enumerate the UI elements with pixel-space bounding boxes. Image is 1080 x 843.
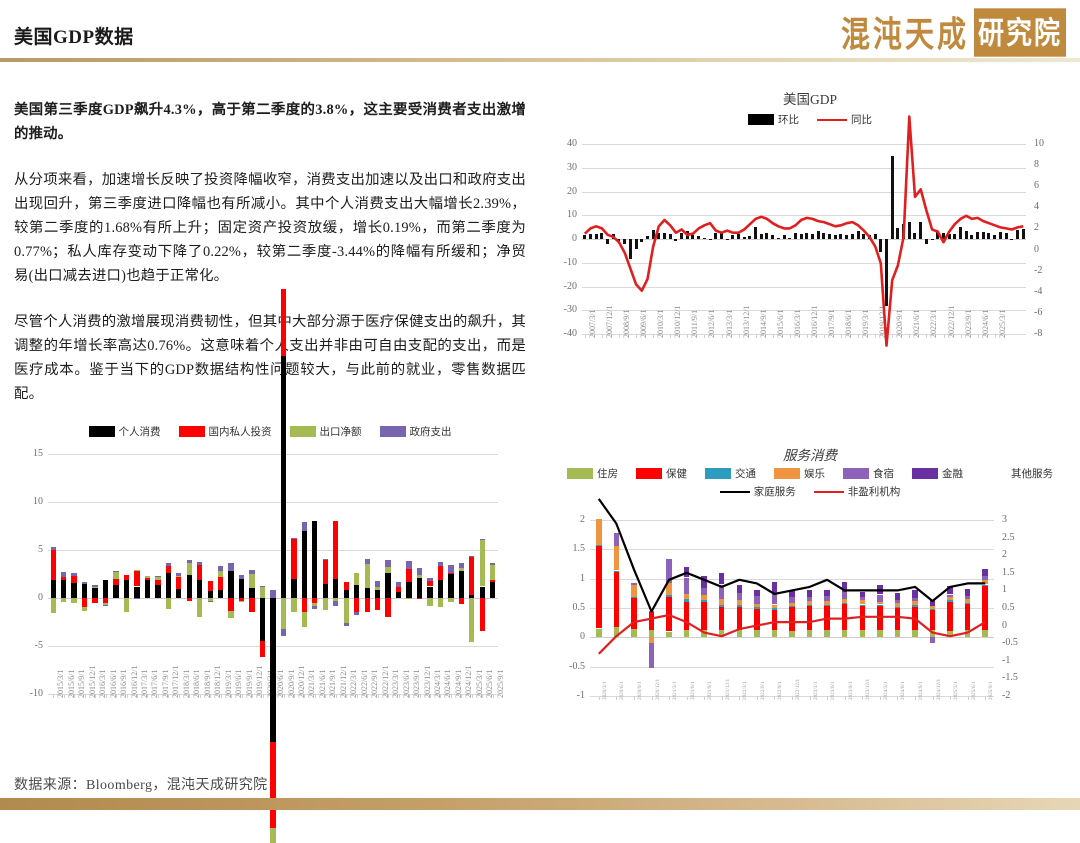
stacked-bar xyxy=(396,454,401,694)
y2-axis-tick-label: 6 xyxy=(1034,180,1062,191)
legend-item: 娱乐 xyxy=(774,466,825,481)
x-axis-tickmark xyxy=(773,334,774,338)
stacked-bar xyxy=(480,454,485,694)
y2-axis-tick-label: -4 xyxy=(1034,286,1062,297)
x-axis-tickmark xyxy=(827,696,828,700)
x-axis-tickmark xyxy=(440,694,441,698)
bar-segment xyxy=(228,571,233,598)
y-axis-tick-label: -20 xyxy=(546,281,577,292)
bar-segment xyxy=(187,575,192,598)
gridline xyxy=(582,334,1026,335)
legend-color-swatch xyxy=(912,468,938,479)
bar-segment xyxy=(291,539,296,579)
x-axis-tickmark xyxy=(74,694,75,698)
bar-segment xyxy=(92,598,97,603)
stacked-bar xyxy=(187,454,192,694)
x-axis-tickmark xyxy=(64,694,65,698)
bar-segment xyxy=(417,598,422,599)
logo-box-text: 研究院 xyxy=(974,8,1066,56)
x-axis-tickmark xyxy=(880,696,881,700)
legend-item: 保健 xyxy=(636,466,687,481)
legend-label: 金融 xyxy=(942,466,963,481)
stacked-bar xyxy=(239,454,244,694)
x-axis-tickmark xyxy=(619,334,620,338)
x-axis-tickmark xyxy=(263,694,264,698)
bar-segment xyxy=(166,563,171,567)
bar-segment xyxy=(103,605,108,606)
bar-segment xyxy=(291,579,296,598)
bar-segment xyxy=(312,521,317,598)
stacked-bar xyxy=(71,454,76,694)
x-axis-tickmark xyxy=(127,694,128,698)
bar-segment xyxy=(480,539,485,540)
bar-segment xyxy=(270,590,275,598)
bar-segment xyxy=(92,585,97,588)
bar-segment xyxy=(208,591,213,598)
header-divider xyxy=(0,58,1080,62)
x-axis-tickmark xyxy=(294,694,295,698)
x-axis-tickmark xyxy=(53,694,54,698)
bar-segment xyxy=(197,598,202,617)
y2-axis-tick-label: 3 xyxy=(1002,514,1030,525)
bar-segment xyxy=(145,576,150,578)
chart-us-gdp: 美国GDP 环比同比 403020100-10-20-30-401086420-… xyxy=(546,84,1074,414)
bar-segment xyxy=(82,607,87,612)
bar-segment xyxy=(145,578,150,580)
x-axis-tickmark xyxy=(461,694,462,698)
bar-segment xyxy=(375,587,380,590)
y-axis-tick-label: -30 xyxy=(546,304,577,315)
company-logo: 混沌天成 研究院 xyxy=(841,10,1066,54)
y-axis-tick-label: 1 xyxy=(554,573,585,584)
legend-item: 住房 xyxy=(567,466,618,481)
x-axis-tickmark xyxy=(722,334,723,338)
bar-segment xyxy=(61,580,66,598)
bar-segment xyxy=(197,565,202,579)
bar-segment xyxy=(406,561,411,570)
y2-axis-tick-label: -2 xyxy=(1002,690,1030,701)
bar-segment xyxy=(385,560,390,568)
stacked-bar xyxy=(365,454,370,694)
x-axis-tickmark xyxy=(420,694,421,698)
bar-segment xyxy=(155,580,160,585)
bar-segment xyxy=(249,574,254,588)
stacked-bar xyxy=(145,454,150,694)
bar-segment xyxy=(92,588,97,598)
bar-segment xyxy=(270,742,275,828)
x-axis-tickmark xyxy=(790,334,791,338)
bar-segment xyxy=(490,563,495,565)
bar-segment xyxy=(51,580,56,598)
legend-label: 家庭服务 xyxy=(754,484,796,499)
x-axis-tickmark xyxy=(200,694,201,698)
x-axis-tickmark xyxy=(961,334,962,338)
x-axis-tickmark xyxy=(221,694,222,698)
bar-segment xyxy=(469,556,474,557)
y-axis-tick-label: -40 xyxy=(546,328,577,339)
bar-segment xyxy=(270,598,275,742)
legend-item: 家庭服务 xyxy=(720,484,796,499)
x-axis-tickmark xyxy=(106,694,107,698)
legend-label: 交通 xyxy=(735,466,756,481)
footer-divider xyxy=(0,798,1080,810)
bar-segment xyxy=(218,577,223,590)
stacked-bar xyxy=(51,454,56,694)
bar-segment xyxy=(438,562,443,567)
y-axis-tick-label: 40 xyxy=(546,138,577,149)
bar-segment xyxy=(469,598,474,642)
bar-segment xyxy=(302,612,307,626)
x-axis-tickmark xyxy=(810,696,811,700)
x-axis-tickmark xyxy=(472,694,473,698)
x-axis-tickmark xyxy=(897,696,898,700)
legend-line-marker xyxy=(814,491,844,493)
legend-color-swatch xyxy=(748,114,774,125)
x-axis-tickmark xyxy=(346,694,347,698)
bar-segment xyxy=(260,598,265,641)
y2-axis-tick-label: 1 xyxy=(1002,584,1030,595)
x-axis-tickmark xyxy=(451,694,452,698)
x-axis-tickmark xyxy=(482,694,483,698)
stacked-bar xyxy=(385,454,390,694)
legend-item: 非盈利机构 xyxy=(814,484,901,499)
source-note: 数据来源：Bloomberg，混沌天成研究院 xyxy=(14,774,268,794)
bar-segment xyxy=(145,580,150,598)
article-body: 美国第三季度GDP飙升4.3%，高于第二季度的3.8%，这主要受消费者支出激增的… xyxy=(14,84,526,421)
stacked-bar xyxy=(155,454,160,694)
paragraph-1: 美国第三季度GDP飙升4.3%，高于第二季度的3.8%，这主要受消费者支出激增的… xyxy=(14,98,526,146)
x-axis-tickmark xyxy=(85,694,86,698)
y-axis-tick-label: 10 xyxy=(12,496,43,507)
legend-item: 食宿 xyxy=(843,466,894,481)
y-axis-tick-label: 10 xyxy=(546,209,577,220)
x-axis-tickmark xyxy=(602,334,603,338)
x-axis-tickmark xyxy=(599,696,600,700)
stacked-bar xyxy=(406,454,411,694)
bar-segment xyxy=(427,598,432,606)
stacked-bar xyxy=(459,454,464,694)
bar-segment xyxy=(365,559,370,565)
stacked-bar xyxy=(176,454,181,694)
stacked-bar xyxy=(354,454,359,694)
bar-segment xyxy=(249,598,254,612)
chart-title: 服务消费 xyxy=(546,444,1074,464)
x-axis-tickmark xyxy=(687,334,688,338)
x-axis-tickmark xyxy=(585,334,586,338)
bar-segment xyxy=(396,587,401,592)
stacked-bar xyxy=(218,454,223,694)
bar-segment xyxy=(176,573,181,576)
y-axis-tick-label: 15 xyxy=(12,448,43,459)
x-axis-tickmark xyxy=(653,334,654,338)
y-axis-tick-label: -0.5 xyxy=(554,661,585,672)
legend-color-swatch xyxy=(567,468,593,479)
bar-segment xyxy=(438,580,443,598)
bar-segment xyxy=(417,575,422,578)
stacked-bar xyxy=(490,454,495,694)
bar-segment xyxy=(260,641,265,656)
x-axis-tickmark xyxy=(179,694,180,698)
stacked-bar xyxy=(134,454,139,694)
bar-segment xyxy=(208,581,213,592)
x-axis-tickmark xyxy=(875,334,876,338)
bar-segment xyxy=(385,598,390,617)
x-axis-tickmark xyxy=(968,696,969,700)
bar-segment xyxy=(375,598,380,610)
x-axis-tickmark xyxy=(634,696,635,700)
bar-segment xyxy=(344,590,349,598)
bar-segment xyxy=(113,585,118,598)
x-axis-tickmark xyxy=(933,696,934,700)
x-axis-tickmark xyxy=(158,694,159,698)
x-axis-tickmark xyxy=(652,696,653,700)
y-axis-tick-label: -5 xyxy=(12,640,43,651)
y2-axis-tick-label: -8 xyxy=(1034,328,1062,339)
stacked-bar xyxy=(375,454,380,694)
x-axis-tickmark xyxy=(985,696,986,700)
bar-segment xyxy=(333,521,338,579)
bar-segment xyxy=(365,588,370,598)
bar-segment xyxy=(92,587,97,588)
x-axis-tickmark xyxy=(116,694,117,698)
legend-label: 同比 xyxy=(851,112,872,127)
bar-segment xyxy=(124,575,129,580)
y2-axis-tick-label: 10 xyxy=(1034,138,1062,149)
bar-segment xyxy=(208,601,213,602)
bar-segment xyxy=(406,569,411,582)
bar-segment xyxy=(228,598,233,611)
x-axis-tickmark xyxy=(862,696,863,700)
x-axis-tickmark xyxy=(399,694,400,698)
x-axis-tickmark xyxy=(670,334,671,338)
stacked-bar xyxy=(197,454,202,694)
x-axis-tickmark xyxy=(807,334,808,338)
bar-segment xyxy=(71,573,76,576)
bar-segment xyxy=(176,576,181,577)
bar-segment xyxy=(51,547,56,550)
chart-gdp-contribution: 个人消费国内私人投资出口净额政府支出 151050-5-102015/3/120… xyxy=(6,420,534,780)
stacked-bar xyxy=(427,454,432,694)
bar-segment xyxy=(459,598,464,604)
legend-item: 金融 xyxy=(912,466,963,481)
bar-segment xyxy=(218,590,223,598)
bar-segment xyxy=(281,629,286,637)
y-axis-tick-label: 1.5 xyxy=(554,543,585,554)
y2-axis-tick-label: 0 xyxy=(1034,244,1062,255)
bar-segment xyxy=(61,577,66,580)
bar-segment xyxy=(82,582,87,584)
bar-segment xyxy=(354,598,359,612)
plot-area: 21.510.50-0.5-132.521.510.50-0.5-1-1.5-2… xyxy=(590,520,994,696)
stacked-bar xyxy=(323,454,328,694)
y2-axis-tick-label: -1.5 xyxy=(1002,672,1030,683)
x-axis-tickmark xyxy=(858,334,859,338)
legend-label: 食宿 xyxy=(873,466,894,481)
x-axis-tickmark xyxy=(995,334,996,338)
x-axis-tickmark xyxy=(231,694,232,698)
bar-segment xyxy=(61,572,66,577)
bar-segment xyxy=(480,587,485,599)
x-axis-tickmark xyxy=(704,696,705,700)
x-axis-tickmark xyxy=(824,334,825,338)
x-axis-tickmark xyxy=(493,694,494,698)
y2-axis-tick-label: 4 xyxy=(1034,201,1062,212)
bar-segment xyxy=(134,598,139,599)
bar-segment xyxy=(427,578,432,581)
bar-segment xyxy=(124,580,129,598)
bar-segment xyxy=(260,586,265,588)
x-axis-tickmark xyxy=(739,334,740,338)
x-axis-tickmark xyxy=(841,334,842,338)
bar-segment xyxy=(417,568,422,575)
y-axis-tick-label: -1 xyxy=(554,690,585,701)
chart-legend: 住房保健交通娱乐食宿金融其他服务家庭服务非盈利机构 xyxy=(546,466,1074,502)
y2-axis-tick-label: 2.5 xyxy=(1002,532,1030,543)
x-axis-tickmark xyxy=(325,694,326,698)
legend-item: 环比 xyxy=(748,112,799,127)
logo-main-text: 混沌天成 xyxy=(841,6,969,57)
bar-segment xyxy=(448,598,453,602)
x-axis-tickmark xyxy=(978,334,979,338)
x-axis-tickmark xyxy=(168,694,169,698)
y2-axis-tick-label: 8 xyxy=(1034,159,1062,170)
bar-segment xyxy=(396,592,401,598)
legend-label: 娱乐 xyxy=(804,466,825,481)
legend-color-swatch xyxy=(843,468,869,479)
stacked-bar xyxy=(249,454,254,694)
stacked-bar xyxy=(302,454,307,694)
bar-segment xyxy=(134,587,139,599)
stacked-bar xyxy=(281,454,286,694)
bar-segment xyxy=(51,598,56,613)
bar-segment xyxy=(490,580,495,582)
bar-segment xyxy=(281,289,286,356)
x-axis-tickmark xyxy=(315,694,316,698)
stacked-bar xyxy=(438,454,443,694)
x-axis-tickmark xyxy=(756,334,757,338)
x-axis-tickmark xyxy=(304,694,305,698)
bar-segment xyxy=(71,583,76,598)
legend-line-marker xyxy=(720,491,750,493)
x-axis-tickmark xyxy=(242,694,243,698)
x-axis-tickmark xyxy=(722,696,723,700)
legend-item: 国内私人投资 xyxy=(179,424,272,439)
page-title: 美国GDP数据 xyxy=(14,22,134,49)
bar-segment xyxy=(218,566,223,571)
bar-segment xyxy=(490,582,495,598)
legend-item: 个人消费 xyxy=(89,424,161,439)
legend-color-swatch xyxy=(89,426,115,437)
bar-segment xyxy=(448,574,453,598)
legend-label: 其他服务 xyxy=(1011,466,1053,481)
bar-segment xyxy=(385,567,390,573)
bar-segment xyxy=(302,522,307,531)
legend-label: 保健 xyxy=(666,466,687,481)
y-axis-tick-label: 0.5 xyxy=(554,602,585,613)
y2-axis-tick-label: 2 xyxy=(1034,222,1062,233)
bar-segment xyxy=(323,559,328,560)
stacked-bar xyxy=(113,454,118,694)
bar-segment xyxy=(354,612,359,615)
bar-segment xyxy=(396,582,401,588)
y-axis-tick-label: 30 xyxy=(546,162,577,173)
y2-axis-tick-label: 0.5 xyxy=(1002,602,1030,613)
y-axis-tick-label: 0 xyxy=(546,233,577,244)
y2-axis-tick-label: -2 xyxy=(1034,265,1062,276)
bar-segment xyxy=(375,581,380,588)
legend-item: 出口净额 xyxy=(290,424,362,439)
bar-segment xyxy=(427,587,432,599)
bar-segment xyxy=(427,581,432,587)
x-axis-tickmark xyxy=(367,694,368,698)
plot-area: 403020100-10-20-30-401086420-2-4-6-82007… xyxy=(582,144,1026,334)
bar-segment xyxy=(406,582,411,598)
yoy-line xyxy=(582,144,1026,334)
y-axis-tick-label: -10 xyxy=(546,257,577,268)
bar-segment xyxy=(302,531,307,598)
x-axis-tickmark xyxy=(210,694,211,698)
bar-segment xyxy=(187,598,192,601)
y-axis-tick-label: 0 xyxy=(12,592,43,603)
legend-label: 国内私人投资 xyxy=(209,424,272,439)
bar-segment xyxy=(197,580,202,598)
bar-segment xyxy=(176,577,181,590)
stacked-bar xyxy=(260,454,265,694)
bar-segment xyxy=(249,588,254,598)
bar-segment xyxy=(239,601,244,602)
x-axis-tickmark xyxy=(892,334,893,338)
bar-segment xyxy=(166,598,171,609)
bar-segment xyxy=(239,575,244,579)
y-axis-tick-label: 0 xyxy=(554,631,585,642)
stacked-bar xyxy=(61,454,66,694)
bar-segment xyxy=(438,598,443,607)
bar-segment xyxy=(113,572,118,579)
bar-segment xyxy=(385,573,390,598)
legend-color-swatch xyxy=(636,468,662,479)
stacked-bar xyxy=(103,454,108,694)
x-axis-tickmark xyxy=(636,334,637,338)
bar-segment xyxy=(375,590,380,598)
bar-segment xyxy=(166,566,171,573)
legend-color-swatch xyxy=(290,426,316,437)
legend-color-swatch xyxy=(179,426,205,437)
legend-label: 环比 xyxy=(778,112,799,127)
x-axis-tickmark xyxy=(950,696,951,700)
legend-label: 住房 xyxy=(597,466,618,481)
x-axis-tickmark xyxy=(357,694,358,698)
bar-segment xyxy=(228,563,233,571)
x-axis-tickmark xyxy=(704,334,705,338)
y-axis-tick-label: -10 xyxy=(12,688,43,699)
x-axis-tickmark xyxy=(388,694,389,698)
bar-segment xyxy=(155,585,160,598)
y2-axis-tick-label: 2 xyxy=(1002,549,1030,560)
legend-line-marker xyxy=(817,119,847,121)
stacked-bar xyxy=(166,454,171,694)
x-axis-tickmark xyxy=(189,694,190,698)
x-axis-tickmark xyxy=(774,696,775,700)
bar-segment xyxy=(134,571,139,586)
x-axis-tickmark xyxy=(137,694,138,698)
x-axis-tickmark xyxy=(284,694,285,698)
stacked-bar xyxy=(124,454,129,694)
legend-color-swatch xyxy=(981,468,1007,479)
legend-label: 出口净额 xyxy=(320,424,362,439)
x-axis-tickmark xyxy=(926,334,927,338)
stacked-bar xyxy=(82,454,87,694)
chart-title: 美国GDP xyxy=(546,88,1074,108)
